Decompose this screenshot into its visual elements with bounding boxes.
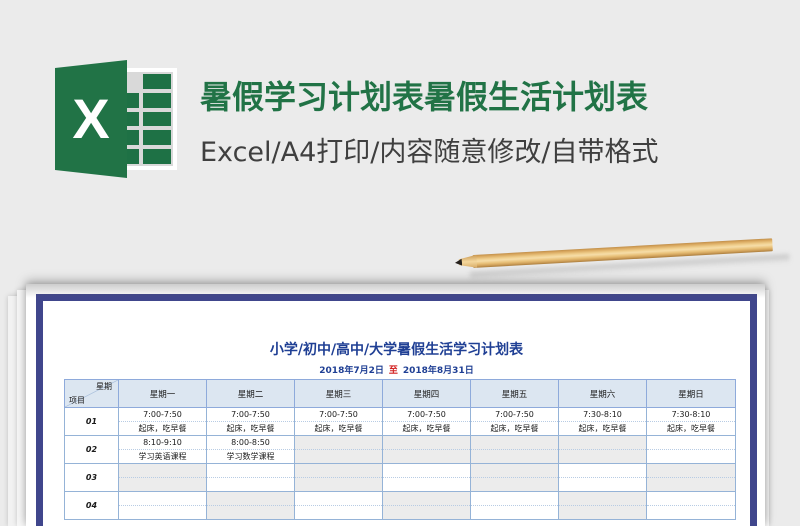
document-date-range: 2018年7月2日至2018年8月31日: [43, 363, 750, 376]
cell-time: [647, 436, 735, 450]
cell-time: 7:00-7:50: [295, 408, 382, 422]
table-body: 01 7:00-7:50起床，吃早餐 7:00-7:50起床，吃早餐 7:00-…: [65, 408, 736, 520]
schedule-cell[interactable]: [559, 492, 647, 520]
cell-time: [207, 464, 294, 478]
schedule-cell[interactable]: 8:00-8:50学习数学课程: [207, 436, 295, 464]
cell-task: [295, 506, 382, 519]
schedule-cell[interactable]: [207, 464, 295, 492]
schedule-cell[interactable]: [647, 492, 736, 520]
column-header-tue: 星期二: [207, 380, 295, 408]
cell-task: [207, 478, 294, 491]
cell-task: [559, 478, 646, 491]
cell-time: [559, 492, 646, 506]
banner-subtitle: Excel/A4打印/内容随意修改/自带格式: [200, 130, 658, 169]
cell-time: [559, 436, 646, 450]
schedule-cell[interactable]: [383, 436, 471, 464]
cell-task: 起床，吃早餐: [295, 422, 382, 435]
cell-time: [559, 464, 646, 478]
cell-task: [383, 478, 470, 491]
cell-task: [559, 450, 646, 463]
banner-title: 暑假学习计划表暑假生活计划表: [200, 72, 648, 118]
excel-logo-letter: X: [55, 60, 127, 178]
schedule-cell[interactable]: [647, 464, 736, 492]
cell-time: [471, 464, 558, 478]
cell-time: [383, 492, 470, 506]
schedule-cell[interactable]: 7:30-8:10起床，吃早餐: [559, 408, 647, 436]
cell-task: 学习英语课程: [119, 450, 206, 463]
schedule-table: 星期 项目 星期一 星期二 星期三 星期四 星期五 星期六 星期日 01 7:0…: [64, 379, 736, 520]
cell-task: [207, 506, 294, 519]
cell-task: [647, 478, 735, 491]
row-number: 02: [65, 436, 119, 464]
cell-time: [295, 492, 382, 506]
table-header-row: 星期 项目 星期一 星期二 星期三 星期四 星期五 星期六 星期日: [65, 380, 736, 408]
date-separator: 至: [389, 366, 398, 376]
cell-task: 学习数学课程: [207, 450, 294, 463]
schedule-cell[interactable]: 7:00-7:50起床，吃早餐: [471, 408, 559, 436]
row-number: 01: [65, 408, 119, 436]
cell-task: [295, 450, 382, 463]
cell-time: 7:00-7:50: [471, 408, 558, 422]
table-row: 04: [65, 492, 736, 520]
schedule-cell[interactable]: [295, 436, 383, 464]
column-header-thu: 星期四: [383, 380, 471, 408]
table-corner-header: 星期 项目: [65, 380, 119, 408]
cell-time: 7:00-7:50: [207, 408, 294, 422]
promo-banner: X 暑假学习计划表暑假生活计划表 Excel/A4打印/内容随意修改/自带格式: [0, 0, 800, 240]
schedule-cell[interactable]: [559, 436, 647, 464]
cell-task: 起床，吃早餐: [207, 422, 294, 435]
schedule-cell[interactable]: 7:00-7:50起床，吃早餐: [383, 408, 471, 436]
cell-task: [647, 450, 735, 463]
schedule-cell[interactable]: [295, 492, 383, 520]
schedule-cell[interactable]: [471, 464, 559, 492]
column-header-sun: 星期日: [647, 380, 736, 408]
cell-task: 起床，吃早餐: [647, 422, 735, 435]
schedule-cell[interactable]: [207, 492, 295, 520]
table-row: 02 8:10-9:10学习英语课程 8:00-8:50学习数学课程: [65, 436, 736, 464]
schedule-cell[interactable]: 7:30-8:10起床，吃早餐: [647, 408, 736, 436]
column-header-fri: 星期五: [471, 380, 559, 408]
cell-task: [647, 506, 735, 519]
cell-time: [295, 436, 382, 450]
pencil-graphite-tip: [455, 259, 462, 266]
column-header-wed: 星期三: [295, 380, 383, 408]
corner-label-item: 项目: [69, 395, 85, 406]
schedule-cell[interactable]: [383, 492, 471, 520]
cell-task: [295, 478, 382, 491]
schedule-cell[interactable]: 7:00-7:50起床，吃早餐: [295, 408, 383, 436]
schedule-cell[interactable]: 7:00-7:50起床，吃早餐: [119, 408, 207, 436]
document-content: 小学/初中/高中/大学暑假生活学习计划表 2018年7月2日至2018年8月31…: [43, 301, 750, 526]
cell-time: 8:00-8:50: [207, 436, 294, 450]
cell-time: [647, 464, 735, 478]
schedule-cell[interactable]: [471, 492, 559, 520]
schedule-cell[interactable]: [383, 464, 471, 492]
cell-task: [471, 450, 558, 463]
row-number: 03: [65, 464, 119, 492]
cell-time: 7:00-7:50: [383, 408, 470, 422]
cell-task: 起床，吃早餐: [383, 422, 470, 435]
schedule-cell[interactable]: [647, 436, 736, 464]
cell-time: [207, 492, 294, 506]
corner-label-day: 星期: [96, 381, 112, 392]
cell-time: [119, 492, 206, 506]
cell-time: [295, 464, 382, 478]
cell-task: [119, 506, 206, 519]
cell-time: [471, 492, 558, 506]
schedule-cell[interactable]: 7:00-7:50起床，吃早餐: [207, 408, 295, 436]
document-title: 小学/初中/高中/大学暑假生活学习计划表: [43, 339, 750, 359]
schedule-cell[interactable]: [119, 464, 207, 492]
cell-task: 起床，吃早餐: [559, 422, 646, 435]
cell-task: [471, 506, 558, 519]
cell-time: 7:00-7:50: [119, 408, 206, 422]
date-start: 2018年7月2日: [319, 366, 384, 376]
cell-task: 起床，吃早餐: [471, 422, 558, 435]
cell-time: [647, 492, 735, 506]
cell-time: 7:30-8:10: [647, 408, 735, 422]
cell-time: [471, 436, 558, 450]
schedule-cell[interactable]: [295, 464, 383, 492]
cell-time: [383, 436, 470, 450]
schedule-cell[interactable]: 8:10-9:10学习英语课程: [119, 436, 207, 464]
cell-time: 8:10-9:10: [119, 436, 206, 450]
date-end: 2018年8月31日: [403, 366, 474, 376]
column-header-sat: 星期六: [559, 380, 647, 408]
cell-task: [471, 478, 558, 491]
cell-time: [383, 464, 470, 478]
excel-logo: X: [55, 60, 180, 178]
schedule-cell[interactable]: [119, 492, 207, 520]
cell-time: 7:30-8:10: [559, 408, 646, 422]
cell-task: [119, 478, 206, 491]
cell-task: 起床，吃早餐: [119, 422, 206, 435]
cell-time: [119, 464, 206, 478]
schedule-cell[interactable]: [471, 436, 559, 464]
table-row: 03: [65, 464, 736, 492]
table-row: 01 7:00-7:50起床，吃早餐 7:00-7:50起床，吃早餐 7:00-…: [65, 408, 736, 436]
cell-task: [383, 450, 470, 463]
schedule-cell[interactable]: [559, 464, 647, 492]
column-header-mon: 星期一: [119, 380, 207, 408]
row-number: 04: [65, 492, 119, 520]
cell-task: [383, 506, 470, 519]
cell-task: [559, 506, 646, 519]
